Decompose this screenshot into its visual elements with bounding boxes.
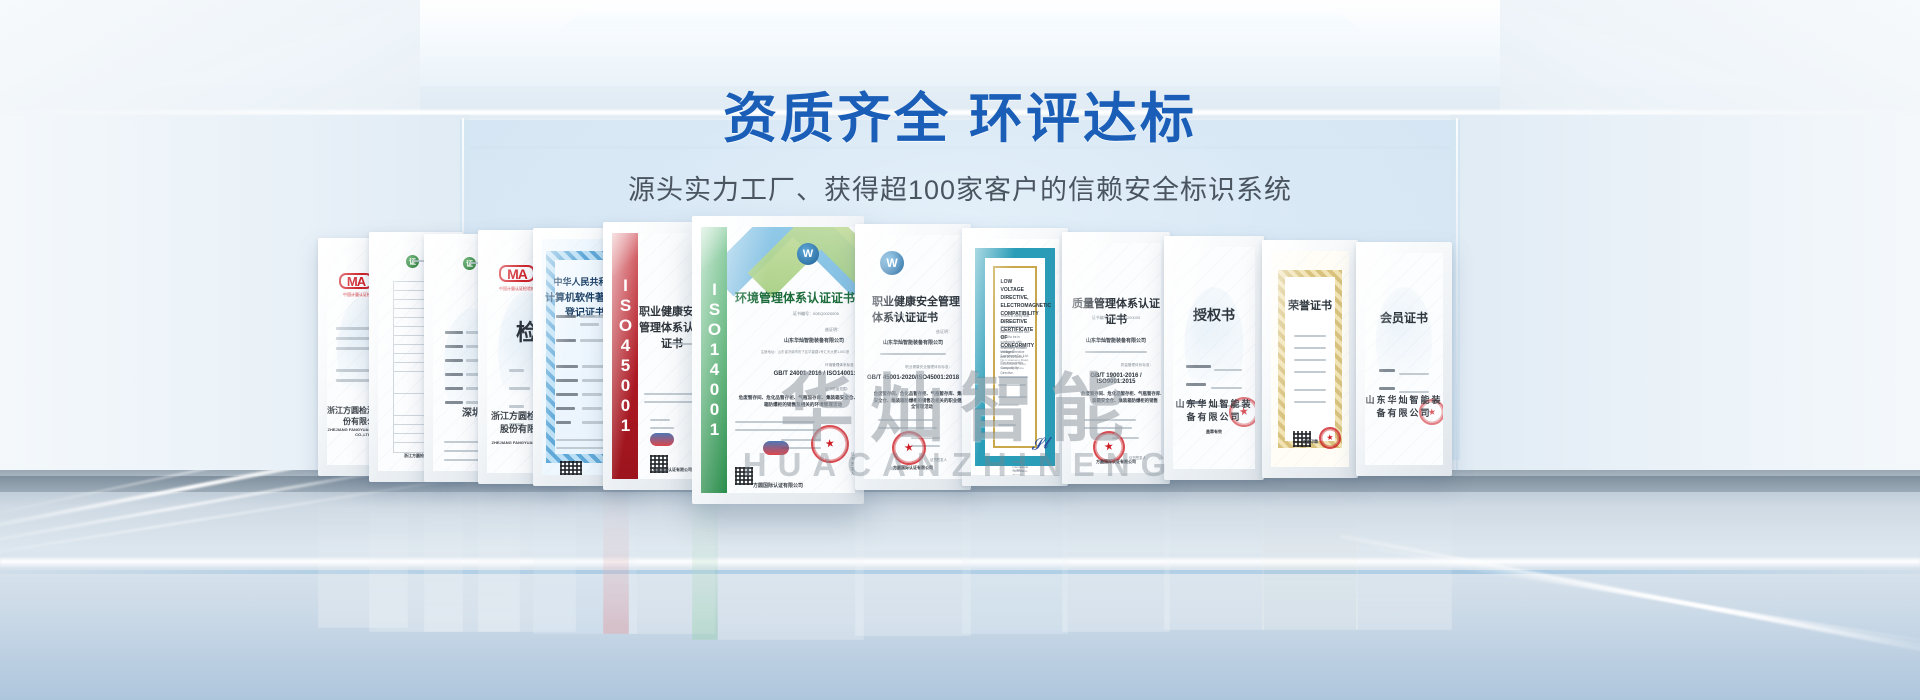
standard-label: 质量管理体系标准： (1121, 363, 1153, 368)
standard-label: 环境管理体系标准 (825, 363, 854, 368)
ma-logo-icon: MA (339, 273, 373, 289)
signature-mark: 𝓢𝓵 (1029, 435, 1049, 454)
signatory-label: 证书签发人 (930, 457, 947, 462)
company-address: 注册地址：山东省济南市历下区华能路1号汇天大厦1-601室 (741, 349, 855, 354)
certificate-row: MA 中国计量认证检验检测 浙江方圆检测集团股份有限公司 ZHEJIANG FA… (0, 228, 1920, 490)
certificate-case[interactable]: 荣誉证书 ★ 红色印章 (1262, 240, 1358, 478)
cert-title: 荣誉证书 (1271, 297, 1349, 313)
cnas-logo-icon (650, 433, 674, 446)
cert-footer: 方圆国际认证有限公司 (864, 465, 962, 471)
company-name: 山东华灿智能装备有限公司 (1071, 337, 1161, 344)
iso14001-side-bar: ISO14001 (701, 227, 727, 493)
cert-footer: 山东华灿智能装备有限公司 (1173, 397, 1255, 423)
cert-title-line1: LOW VOLTAGE DIRECTIVE, (1001, 278, 1030, 302)
applicant-address: No.1 Huaneng Road, Lixia District, Jinan… (1001, 358, 1030, 370)
certification-body-logo-icon: W (880, 251, 904, 275)
page-title: 资质齐全 环评达标 (0, 88, 1920, 152)
company-name: 山东华灿智能装备有限公司 (864, 339, 962, 346)
scope-value: 危废暂存间、危化品暂存柜、气瓶暂存库、集装箱安全仓、集装箱防爆柜的销售及相关的环… (737, 395, 855, 409)
cert-footer: 山东华灿智能装备有限公司 (1365, 393, 1443, 419)
signature-label: Auditing Training Centre Industry and Tr… (1013, 468, 1030, 475)
iso45001-label: ISO45001 (615, 276, 635, 436)
cert-footer: 方圆国际认证有限公司 (1071, 459, 1161, 465)
floor (0, 470, 1920, 700)
ceiling-light-strip (557, 6, 1363, 32)
company-name: 山东华灿智能装备有限公司 (759, 337, 855, 344)
applicant-name: Shandong Huacan Intelligent Equipment Co… (1001, 346, 1030, 358)
company-label: 兹证明： (825, 327, 841, 333)
scope-value: 危废暂存间、危化品暂存柜、气瓶暂存库、集装箱安全仓、集装箱防爆柜的销售及相关的职… (872, 391, 962, 411)
scope-value: 危废暂存间、危化品暂存柜、气瓶暂存库、集装箱安全仓、集装箱防爆柜的销售 (1079, 391, 1161, 404)
certificate-case[interactable]: 质量管理体系认证证书 证书编号：00Q0Q0200005 山东华灿智能装备有限公… (1062, 232, 1170, 484)
standard-value: GB/T 19001-2016 / ISO9001:2015 (1071, 373, 1161, 385)
certification-body-logo-icon: W (797, 243, 819, 265)
light-streak (1340, 534, 1920, 660)
cert-title: 会员证书 (1365, 309, 1443, 326)
cert-number: 证书编号：00Q0Q0200005 (1071, 315, 1161, 321)
floor-accent-line (0, 570, 1920, 574)
standard-value: GB/T 24001-2016 / ISO14001:2015 (771, 371, 855, 377)
cnas-logo-icon (763, 441, 789, 455)
headline-block: 资质齐全 环评达标 源头实力工厂、获得超100家客户的信赖安全标识系统 (0, 88, 1920, 207)
cert-number: 证书编号：00EQ0020005 (793, 311, 839, 317)
standard-value: GB/T 45001-2020/ISO45001:2018 (864, 375, 962, 381)
iso45001-side-bar: ISO45001 (612, 233, 638, 479)
certificate-case[interactable]: 授权书 ★ 山东华灿智能装备有限公司 盖章有效 (1164, 236, 1264, 480)
cert-seal-label: 红色印章 (1271, 439, 1349, 445)
red-seal-stamp: ★ (890, 429, 928, 467)
cert-title: 环境管理体系认证证书 (735, 289, 855, 306)
floor-gloss-line (0, 556, 1920, 568)
ma-logo-icon: MA (499, 265, 535, 282)
certificate-case[interactable]: W 职业健康安全管理体系认证证书 证书编号：00OHS0200005 兹证明： … (855, 224, 971, 490)
standard-label: 职业健康安全管理体系标准： (905, 365, 952, 370)
cert-title: 授权书 (1173, 305, 1255, 325)
cert-footer: 方圆国际认证有限公司 (701, 482, 855, 489)
teal-border: LOW VOLTAGE DIRECTIVE, ELECTROMAGNETIC C… (975, 248, 1056, 465)
banner-stage: 资质齐全 环评达标 源头实力工厂、获得超100家客户的信赖安全标识系统 MA 中… (0, 0, 1920, 700)
cert-title: 质量管理体系认证证书 (1071, 295, 1161, 327)
qr-code-icon (560, 461, 582, 475)
scope-label: 证书覆盖范围： (825, 387, 850, 392)
company-label: 兹证明： (936, 329, 952, 335)
certificate-case[interactable]: 会员证书 ★ 山东华灿智能装备有限公司 (1356, 242, 1452, 476)
cert-footer-sub: 盖章有效 (1173, 429, 1255, 435)
page-subtitle: 源头实力工厂、获得超100家客户的信赖安全标识系统 (0, 168, 1920, 207)
cert-number: 证书编号：00OHS0200005 (864, 313, 962, 319)
iso14001-label: ISO14001 (704, 280, 724, 440)
certificate-case[interactable]: W ISO14001 环境管理体系认证证书 证书编号：00EQ0020005 兹… (692, 216, 864, 504)
cert-title: 职业健康安全管理体系认证证书 (872, 293, 962, 325)
certificate-case[interactable]: LOW VOLTAGE DIRECTIVE, ELECTROMAGNETIC C… (962, 228, 1068, 486)
